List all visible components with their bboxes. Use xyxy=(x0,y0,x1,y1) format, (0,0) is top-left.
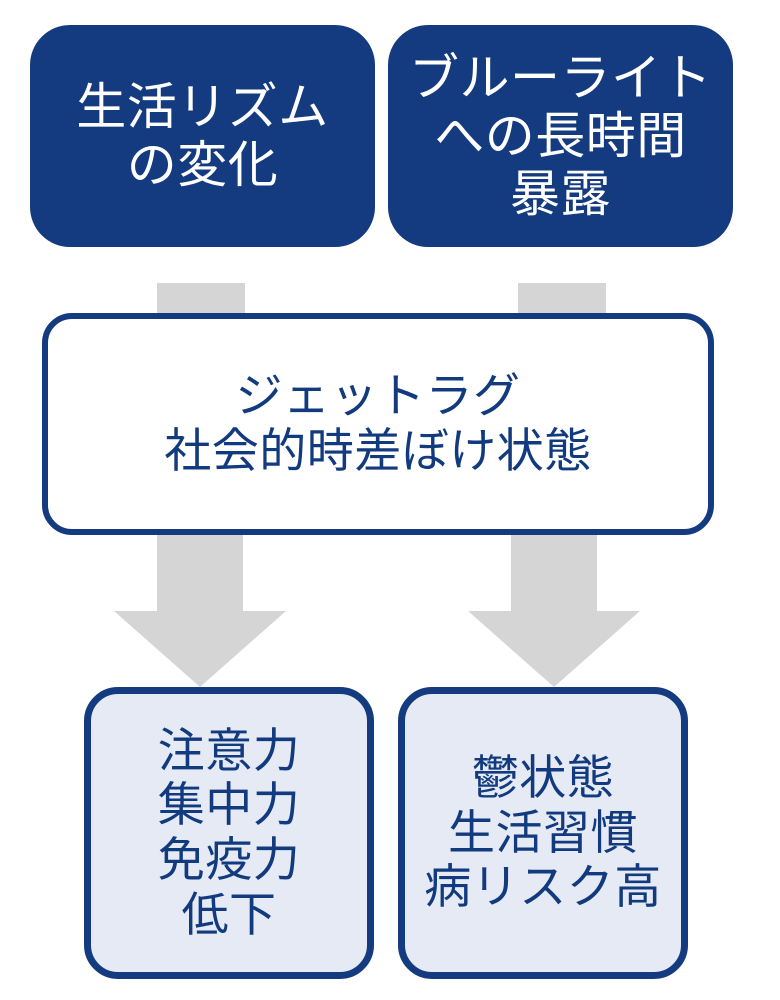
node-bluelight-exposure: ブルーライト への長時間 暴露 xyxy=(388,25,733,247)
node-lifestyle-change: 生活リズム の変化 xyxy=(30,25,375,247)
connector-bluelight-to-jetlag-arrow-icon xyxy=(518,283,606,315)
connector-jetlag-to-cognitive-arrow-icon xyxy=(114,535,286,687)
node-jetlag: ジェットラグ 社会的時差ぼけ状態 xyxy=(42,313,714,535)
node-jetlag-label: ジェットラグ 社会的時差ぼけ状態 xyxy=(164,369,592,478)
node-cognitive-decline: 注意力 集中力 免疫力 低下 xyxy=(84,687,374,979)
connector-lifestyle-to-jetlag-arrow-icon xyxy=(157,283,245,315)
node-cognitive-decline-label: 注意力 集中力 免疫力 低下 xyxy=(158,724,301,942)
flowchart-diagram: 生活リズム の変化 ブルーライト への長時間 暴露 ジェットラグ 社会的時差ぼけ… xyxy=(0,0,780,1000)
node-lifestyle-change-label: 生活リズム の変化 xyxy=(76,78,329,194)
node-bluelight-exposure-label: ブルーライト への長時間 暴露 xyxy=(409,49,712,223)
node-health-risk: 鬱状態 生活習慣 病リスク高 xyxy=(398,687,688,979)
node-health-risk-label: 鬱状態 生活習慣 病リスク高 xyxy=(424,751,662,915)
connector-jetlag-to-health-arrow-icon xyxy=(468,535,640,687)
